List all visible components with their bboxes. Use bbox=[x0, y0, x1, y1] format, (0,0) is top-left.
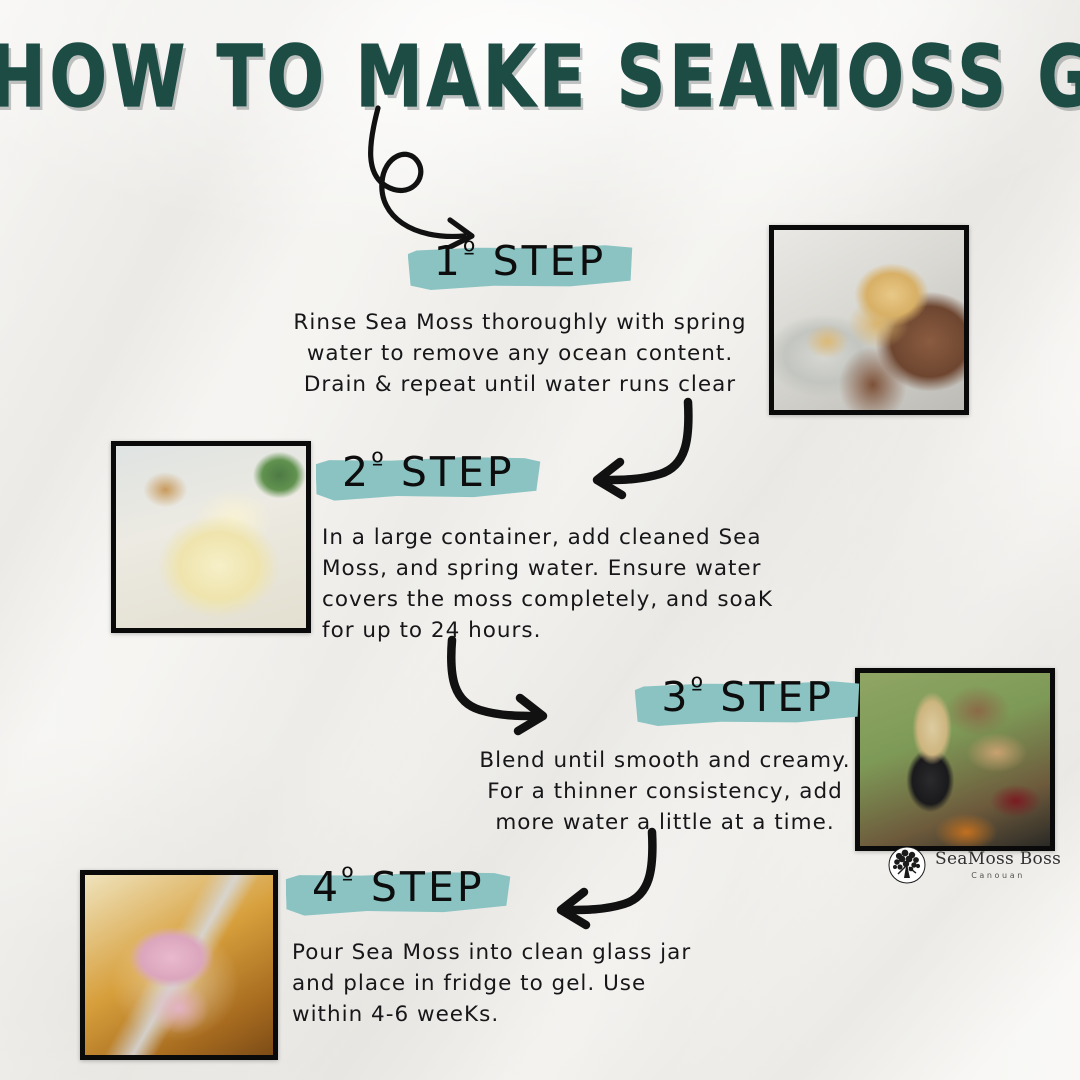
step-1-body: Rinse Sea Moss thoroughly with spring wa… bbox=[270, 308, 770, 401]
tree-circle-icon bbox=[888, 846, 926, 884]
step-2-label: STEP bbox=[401, 448, 515, 496]
step-3-header-text: 3º STEP bbox=[661, 673, 834, 721]
step-3-photo-image bbox=[860, 673, 1050, 846]
step-4-header-wrap: 4º STEP bbox=[286, 858, 706, 917]
step-2-header: 2º STEP bbox=[316, 443, 541, 502]
step-4-photo-image bbox=[85, 875, 273, 1055]
step-2-header-text: 2º STEP bbox=[342, 448, 515, 496]
step-1-photo-image bbox=[774, 230, 964, 410]
brand-logo: SeaMoss Boss Canouan bbox=[888, 846, 1061, 884]
step-1-label: STEP bbox=[493, 237, 607, 285]
step-4-header: 4º STEP bbox=[286, 858, 511, 917]
step-1-header-text: 1º STEP bbox=[434, 237, 607, 285]
step-1: 1º STEP Rinse Sea Moss thoroughly with s… bbox=[270, 232, 770, 401]
step-4-ordinal: 4 bbox=[312, 863, 341, 911]
brand-text: SeaMoss Boss Canouan bbox=[935, 851, 1061, 880]
step-3-ordinal: 3 bbox=[661, 673, 690, 721]
step-3-photo bbox=[855, 668, 1055, 851]
step-3-label: STEP bbox=[720, 673, 834, 721]
step-1-photo bbox=[769, 225, 969, 415]
step-1-ordinal-suffix: º bbox=[463, 236, 477, 267]
step-4-label: STEP bbox=[371, 863, 485, 911]
step-1-ordinal: 1 bbox=[434, 237, 463, 285]
step-4-header-text: 4º STEP bbox=[312, 863, 485, 911]
step-2: 2º STEP In a large container, add cleane… bbox=[316, 443, 776, 646]
step-1-header: 1º STEP bbox=[408, 232, 633, 291]
step-1-header-wrap: 1º STEP bbox=[270, 232, 770, 291]
step-2-body: In a large container, add cleaned Sea Mo… bbox=[316, 523, 776, 647]
step-2-ordinal: 2 bbox=[342, 448, 371, 496]
brand-name: SeaMoss Boss bbox=[935, 851, 1061, 868]
brand-location: Canouan bbox=[935, 872, 1061, 880]
step-2-photo bbox=[111, 441, 311, 633]
step-2-header-wrap: 2º STEP bbox=[316, 443, 776, 502]
step-3-ordinal-suffix: º bbox=[691, 672, 705, 703]
step-4: 4º STEP Pour Sea Moss into clean glass j… bbox=[286, 858, 706, 1031]
step-3-header-wrap: 3º STEP bbox=[470, 668, 860, 727]
step-4-ordinal-suffix: º bbox=[341, 862, 355, 893]
step-4-body: Pour Sea Moss into clean glass jar and p… bbox=[286, 938, 706, 1031]
step-3: 3º STEP Blend until smooth and creamy. F… bbox=[470, 668, 860, 839]
step-3-header: 3º STEP bbox=[635, 668, 860, 727]
step-2-photo-image bbox=[116, 446, 306, 628]
step-3-body: Blend until smooth and creamy. For a thi… bbox=[470, 746, 860, 839]
step-2-ordinal-suffix: º bbox=[371, 447, 385, 478]
step-4-photo bbox=[80, 870, 278, 1060]
page-title: HOW TO MAKE SEAMOSS GEL bbox=[0, 28, 1080, 127]
